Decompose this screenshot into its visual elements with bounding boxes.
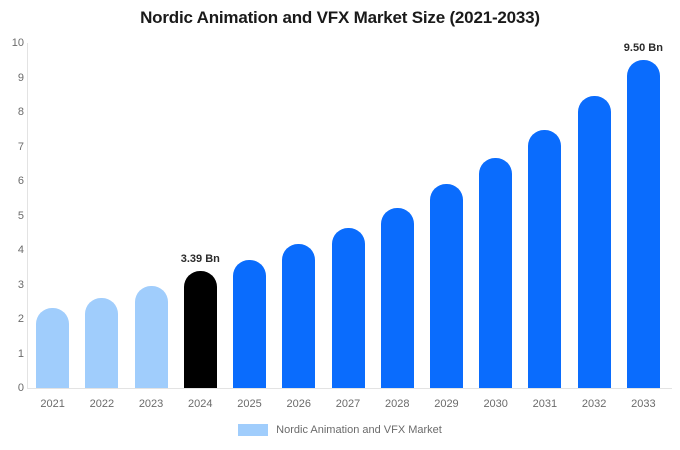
bar-2028[interactable] [381,208,414,388]
y-tick-label: 2 [2,313,24,325]
y-axis: 012345678910 [0,0,24,450]
chart-legend[interactable]: Nordic Animation and VFX Market [0,424,680,436]
bar-2025[interactable] [233,260,266,388]
x-tick-label-2033: 2033 [613,398,673,410]
bar-2021[interactable] [36,308,69,388]
bar-2022[interactable] [85,298,118,388]
y-tick-label: 10 [2,37,24,49]
y-tick-label: 6 [2,175,24,187]
plot-area: 3.39 Bn9.50 Bn [28,43,668,388]
bar-2027[interactable] [332,228,365,388]
bar-2023[interactable] [135,286,168,388]
bar-2032[interactable] [578,96,611,388]
y-tick-label: 7 [2,141,24,153]
y-tick-label: 4 [2,244,24,256]
bar-2026[interactable] [282,244,315,388]
y-tick-label: 3 [2,279,24,291]
bar-column-2030[interactable] [479,43,512,388]
bar-value-label-2033: 9.50 Bn [624,42,663,54]
y-tick-label: 0 [2,382,24,394]
y-tick-label: 8 [2,106,24,118]
bar-column-2032[interactable] [578,43,611,388]
y-tick-label: 9 [2,72,24,84]
bar-2030[interactable] [479,158,512,388]
chart-title: Nordic Animation and VFX Market Size (20… [0,8,680,28]
bar-chart: Nordic Animation and VFX Market Size (20… [0,0,680,450]
bar-2024[interactable] [184,271,217,388]
bar-column-2024[interactable]: 3.39 Bn [184,43,217,388]
y-tick-label: 5 [2,210,24,222]
bar-2031[interactable] [528,130,561,388]
bar-2029[interactable] [430,184,463,388]
bar-column-2029[interactable] [430,43,463,388]
bar-column-2023[interactable] [135,43,168,388]
bar-column-2027[interactable] [332,43,365,388]
x-axis-line [27,388,672,389]
bar-column-2026[interactable] [282,43,315,388]
bar-column-2021[interactable] [36,43,69,388]
bar-value-label-2024: 3.39 Bn [181,253,220,265]
bar-column-2031[interactable] [528,43,561,388]
y-tick-label: 1 [2,348,24,360]
bar-column-2028[interactable] [381,43,414,388]
bar-column-2022[interactable] [85,43,118,388]
legend-swatch-nordic-animation-and-vfx-market [238,424,268,436]
bar-column-2033[interactable]: 9.50 Bn [627,43,660,388]
bar-column-2025[interactable] [233,43,266,388]
bar-2033[interactable] [627,60,660,388]
legend-label-nordic-animation-and-vfx-market: Nordic Animation and VFX Market [276,424,442,436]
